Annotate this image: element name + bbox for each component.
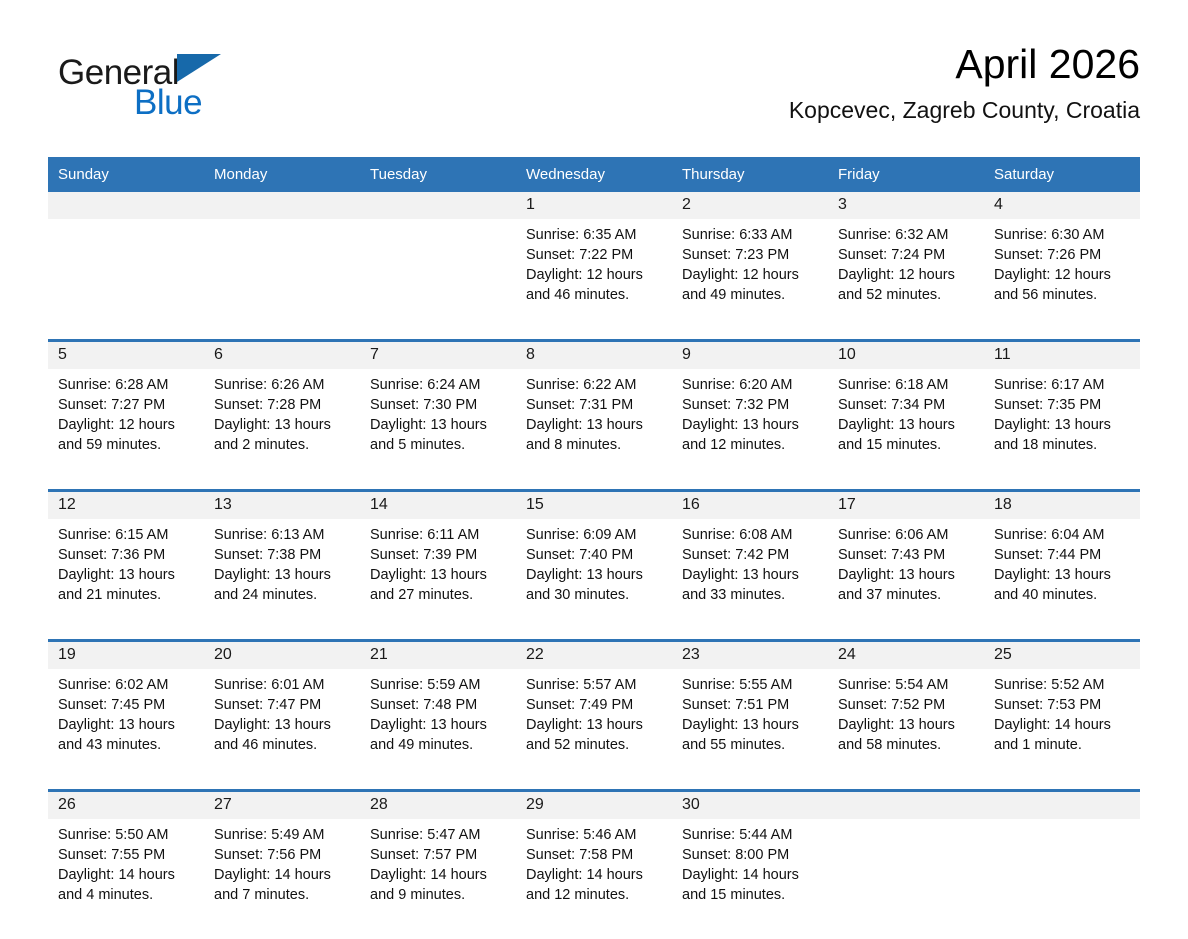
detail-line: and 5 minutes. xyxy=(370,435,508,455)
detail-line: Sunset: 7:55 PM xyxy=(58,845,196,865)
detail-line: Sunrise: 5:55 AM xyxy=(682,675,820,695)
day-cell-details: Sunrise: 5:46 AMSunset: 7:58 PMDaylight:… xyxy=(516,819,672,939)
detail-line: Daylight: 13 hours xyxy=(526,415,664,435)
detail-line: Sunset: 7:48 PM xyxy=(370,695,508,715)
day-cell-details: Sunrise: 5:52 AMSunset: 7:53 PMDaylight:… xyxy=(984,669,1140,791)
detail-line: Daylight: 12 hours xyxy=(526,265,664,285)
day-cell-details: Sunrise: 5:50 AMSunset: 7:55 PMDaylight:… xyxy=(48,819,204,939)
detail-line: Daylight: 13 hours xyxy=(214,415,352,435)
day-cell-details: Sunrise: 5:55 AMSunset: 7:51 PMDaylight:… xyxy=(672,669,828,791)
detail-line: Sunset: 7:51 PM xyxy=(682,695,820,715)
detail-line: Sunset: 7:27 PM xyxy=(58,395,196,415)
detail-line: Daylight: 13 hours xyxy=(526,715,664,735)
day-cell-details: Sunrise: 6:15 AMSunset: 7:36 PMDaylight:… xyxy=(48,519,204,641)
detail-line: and 46 minutes. xyxy=(214,735,352,755)
day-number[interactable]: 6 xyxy=(204,341,360,370)
detail-line: Sunrise: 6:15 AM xyxy=(58,525,196,545)
weekday-header-monday: Monday xyxy=(204,157,360,192)
detail-line: Daylight: 13 hours xyxy=(838,715,976,735)
day-number[interactable]: 12 xyxy=(48,491,204,520)
detail-line: and 52 minutes. xyxy=(838,285,976,305)
detail-line: Sunset: 7:31 PM xyxy=(526,395,664,415)
detail-line: and 18 minutes. xyxy=(994,435,1132,455)
day-cell-details: Sunrise: 6:32 AMSunset: 7:24 PMDaylight:… xyxy=(828,219,984,341)
detail-line: Daylight: 12 hours xyxy=(58,415,196,435)
detail-line: Sunset: 7:28 PM xyxy=(214,395,352,415)
detail-line: and 24 minutes. xyxy=(214,585,352,605)
detail-line: Sunset: 7:26 PM xyxy=(994,245,1132,265)
page-header: General Blue April 2026 Kopcevec, Zagreb… xyxy=(48,40,1140,150)
day-number[interactable]: 15 xyxy=(516,491,672,520)
day-cell-details: Sunrise: 6:24 AMSunset: 7:30 PMDaylight:… xyxy=(360,369,516,491)
detail-line: Sunrise: 6:20 AM xyxy=(682,375,820,395)
day-cell-details: Sunrise: 6:20 AMSunset: 7:32 PMDaylight:… xyxy=(672,369,828,491)
detail-line: Sunset: 7:49 PM xyxy=(526,695,664,715)
weekday-header-saturday: Saturday xyxy=(984,157,1140,192)
detail-line: and 27 minutes. xyxy=(370,585,508,605)
detail-line: Daylight: 13 hours xyxy=(214,565,352,585)
detail-line: and 59 minutes. xyxy=(58,435,196,455)
detail-line: Sunrise: 5:50 AM xyxy=(58,825,196,845)
detail-line: Sunset: 7:57 PM xyxy=(370,845,508,865)
detail-line: and 49 minutes. xyxy=(370,735,508,755)
detail-line: Sunset: 7:40 PM xyxy=(526,545,664,565)
detail-line: Sunset: 7:39 PM xyxy=(370,545,508,565)
day-cell-details: Sunrise: 6:09 AMSunset: 7:40 PMDaylight:… xyxy=(516,519,672,641)
detail-line: Daylight: 13 hours xyxy=(214,715,352,735)
detail-line: Sunrise: 6:01 AM xyxy=(214,675,352,695)
day-cell-details: Sunrise: 6:13 AMSunset: 7:38 PMDaylight:… xyxy=(204,519,360,641)
day-number[interactable]: 14 xyxy=(360,491,516,520)
triangle-icon xyxy=(177,54,221,82)
detail-line: Sunset: 7:45 PM xyxy=(58,695,196,715)
detail-line: and 55 minutes. xyxy=(682,735,820,755)
day-cell-empty xyxy=(828,819,984,939)
day-number[interactable]: 7 xyxy=(360,341,516,370)
detail-line: Sunset: 7:42 PM xyxy=(682,545,820,565)
detail-line: Daylight: 13 hours xyxy=(58,565,196,585)
day-cell-details: Sunrise: 6:06 AMSunset: 7:43 PMDaylight:… xyxy=(828,519,984,641)
week-info-row: Sunrise: 6:02 AMSunset: 7:45 PMDaylight:… xyxy=(48,669,1140,791)
location-subtitle: Kopcevec, Zagreb County, Croatia xyxy=(440,94,1140,126)
detail-line: Daylight: 14 hours xyxy=(370,865,508,885)
detail-line: and 15 minutes. xyxy=(682,885,820,905)
detail-line: and 9 minutes. xyxy=(370,885,508,905)
week-date-row: 2627282930 xyxy=(48,791,1140,820)
day-number[interactable]: 5 xyxy=(48,341,204,370)
detail-line: Sunset: 7:30 PM xyxy=(370,395,508,415)
detail-line: and 21 minutes. xyxy=(58,585,196,605)
day-cell-details: Sunrise: 6:35 AMSunset: 7:22 PMDaylight:… xyxy=(516,219,672,341)
weekday-header-thursday: Thursday xyxy=(672,157,828,192)
weekday-header-tuesday: Tuesday xyxy=(360,157,516,192)
day-number-empty xyxy=(984,791,1140,820)
day-number[interactable]: 24 xyxy=(828,641,984,670)
detail-line: Sunrise: 6:30 AM xyxy=(994,225,1132,245)
day-cell-details: Sunrise: 5:44 AMSunset: 8:00 PMDaylight:… xyxy=(672,819,828,939)
weekday-header-sunday: Sunday xyxy=(48,157,204,192)
day-number[interactable]: 13 xyxy=(204,491,360,520)
day-number[interactable]: 23 xyxy=(672,641,828,670)
week-date-row: 19202122232425 xyxy=(48,641,1140,670)
day-cell-details: Sunrise: 6:01 AMSunset: 7:47 PMDaylight:… xyxy=(204,669,360,791)
day-cell-details: Sunrise: 6:33 AMSunset: 7:23 PMDaylight:… xyxy=(672,219,828,341)
day-number[interactable]: 21 xyxy=(360,641,516,670)
detail-line: Sunrise: 6:06 AM xyxy=(838,525,976,545)
detail-line: Sunrise: 5:57 AM xyxy=(526,675,664,695)
detail-line: and 33 minutes. xyxy=(682,585,820,605)
general-blue-logo[interactable]: General Blue xyxy=(58,54,258,128)
detail-line: Sunrise: 6:24 AM xyxy=(370,375,508,395)
detail-line: and 56 minutes. xyxy=(994,285,1132,305)
detail-line: and 58 minutes. xyxy=(838,735,976,755)
day-number[interactable]: 10 xyxy=(828,341,984,370)
day-cell-details: Sunrise: 6:17 AMSunset: 7:35 PMDaylight:… xyxy=(984,369,1140,491)
detail-line: Sunrise: 6:13 AM xyxy=(214,525,352,545)
detail-line: Daylight: 13 hours xyxy=(682,565,820,585)
detail-line: Sunrise: 6:35 AM xyxy=(526,225,664,245)
detail-line: Sunset: 7:35 PM xyxy=(994,395,1132,415)
day-cell-details: Sunrise: 5:59 AMSunset: 7:48 PMDaylight:… xyxy=(360,669,516,791)
day-number[interactable]: 29 xyxy=(516,791,672,820)
detail-line: Sunset: 7:32 PM xyxy=(682,395,820,415)
week-info-row: Sunrise: 6:35 AMSunset: 7:22 PMDaylight:… xyxy=(48,219,1140,341)
detail-line: Sunset: 7:44 PM xyxy=(994,545,1132,565)
detail-line: and 37 minutes. xyxy=(838,585,976,605)
detail-line: Sunrise: 6:18 AM xyxy=(838,375,976,395)
day-cell-details: Sunrise: 5:49 AMSunset: 7:56 PMDaylight:… xyxy=(204,819,360,939)
detail-line: and 43 minutes. xyxy=(58,735,196,755)
detail-line: Daylight: 13 hours xyxy=(526,565,664,585)
detail-line: and 30 minutes. xyxy=(526,585,664,605)
detail-line: Sunset: 7:36 PM xyxy=(58,545,196,565)
day-cell-empty xyxy=(360,219,516,341)
day-number[interactable]: 1 xyxy=(516,192,672,219)
week-info-row: Sunrise: 5:50 AMSunset: 7:55 PMDaylight:… xyxy=(48,819,1140,939)
detail-line: Daylight: 14 hours xyxy=(214,865,352,885)
detail-line: Daylight: 13 hours xyxy=(370,565,508,585)
detail-line: Daylight: 12 hours xyxy=(838,265,976,285)
weekday-header-friday: Friday xyxy=(828,157,984,192)
detail-line: Daylight: 14 hours xyxy=(994,715,1132,735)
day-number[interactable]: 11 xyxy=(984,341,1140,370)
detail-line: Daylight: 13 hours xyxy=(682,415,820,435)
day-number[interactable]: 2 xyxy=(672,192,828,219)
detail-line: Sunset: 7:24 PM xyxy=(838,245,976,265)
detail-line: Sunrise: 5:46 AM xyxy=(526,825,664,845)
detail-line: Daylight: 13 hours xyxy=(370,715,508,735)
week-date-row: 12131415161718 xyxy=(48,491,1140,520)
detail-line: Sunset: 7:43 PM xyxy=(838,545,976,565)
day-cell-details: Sunrise: 6:02 AMSunset: 7:45 PMDaylight:… xyxy=(48,669,204,791)
detail-line: and 1 minute. xyxy=(994,735,1132,755)
detail-line: Sunrise: 6:17 AM xyxy=(994,375,1132,395)
day-cell-empty xyxy=(984,819,1140,939)
calendar-grid: Sunday Monday Tuesday Wednesday Thursday… xyxy=(48,157,1140,939)
day-number[interactable]: 16 xyxy=(672,491,828,520)
detail-line: Sunset: 7:58 PM xyxy=(526,845,664,865)
detail-line: Sunrise: 6:28 AM xyxy=(58,375,196,395)
detail-line: Daylight: 14 hours xyxy=(58,865,196,885)
day-number[interactable]: 9 xyxy=(672,341,828,370)
day-number[interactable]: 27 xyxy=(204,791,360,820)
detail-line: Sunrise: 5:47 AM xyxy=(370,825,508,845)
detail-line: Sunset: 7:53 PM xyxy=(994,695,1132,715)
detail-line: Daylight: 12 hours xyxy=(682,265,820,285)
day-cell-details: Sunrise: 5:57 AMSunset: 7:49 PMDaylight:… xyxy=(516,669,672,791)
day-number[interactable]: 20 xyxy=(204,641,360,670)
day-cell-details: Sunrise: 6:28 AMSunset: 7:27 PMDaylight:… xyxy=(48,369,204,491)
detail-line: Sunrise: 5:52 AM xyxy=(994,675,1132,695)
detail-line: and 52 minutes. xyxy=(526,735,664,755)
calendar-page: General Blue April 2026 Kopcevec, Zagreb… xyxy=(0,0,1188,918)
detail-line: Daylight: 14 hours xyxy=(682,865,820,885)
detail-line: and 7 minutes. xyxy=(214,885,352,905)
detail-line: Sunrise: 6:08 AM xyxy=(682,525,820,545)
detail-line: Sunset: 7:56 PM xyxy=(214,845,352,865)
page-title: April 2026 xyxy=(440,40,1140,88)
detail-line: and 49 minutes. xyxy=(682,285,820,305)
detail-line: Sunset: 7:52 PM xyxy=(838,695,976,715)
day-number[interactable]: 30 xyxy=(672,791,828,820)
day-number[interactable]: 17 xyxy=(828,491,984,520)
detail-line: Sunrise: 6:32 AM xyxy=(838,225,976,245)
day-cell-details: Sunrise: 6:11 AMSunset: 7:39 PMDaylight:… xyxy=(360,519,516,641)
detail-line: and 8 minutes. xyxy=(526,435,664,455)
detail-line: Sunrise: 5:49 AM xyxy=(214,825,352,845)
detail-line: Daylight: 13 hours xyxy=(994,415,1132,435)
detail-line: Sunrise: 6:26 AM xyxy=(214,375,352,395)
week-date-row: 1234 xyxy=(48,192,1140,219)
day-number-empty xyxy=(828,791,984,820)
detail-line: Sunset: 7:47 PM xyxy=(214,695,352,715)
detail-line: Sunrise: 5:54 AM xyxy=(838,675,976,695)
calendar-header-row: Sunday Monday Tuesday Wednesday Thursday… xyxy=(48,157,1140,192)
detail-line: and 40 minutes. xyxy=(994,585,1132,605)
day-number[interactable]: 4 xyxy=(984,192,1140,219)
day-number[interactable]: 18 xyxy=(984,491,1140,520)
day-number[interactable]: 3 xyxy=(828,192,984,219)
detail-line: Daylight: 14 hours xyxy=(526,865,664,885)
detail-line: and 15 minutes. xyxy=(838,435,976,455)
title-block: April 2026 Kopcevec, Zagreb County, Croa… xyxy=(440,40,1140,126)
detail-line: Daylight: 13 hours xyxy=(370,415,508,435)
detail-line: Sunrise: 6:33 AM xyxy=(682,225,820,245)
day-number-empty xyxy=(360,192,516,219)
day-number[interactable]: 19 xyxy=(48,641,204,670)
weekday-header-wednesday: Wednesday xyxy=(516,157,672,192)
detail-line: Sunrise: 6:04 AM xyxy=(994,525,1132,545)
detail-line: Daylight: 12 hours xyxy=(994,265,1132,285)
week-info-row: Sunrise: 6:28 AMSunset: 7:27 PMDaylight:… xyxy=(48,369,1140,491)
day-number-empty xyxy=(204,192,360,219)
detail-line: Sunrise: 5:44 AM xyxy=(682,825,820,845)
detail-line: and 4 minutes. xyxy=(58,885,196,905)
detail-line: Sunrise: 6:22 AM xyxy=(526,375,664,395)
detail-line: Daylight: 13 hours xyxy=(838,565,976,585)
day-cell-empty xyxy=(48,219,204,341)
detail-line: Sunrise: 5:59 AM xyxy=(370,675,508,695)
detail-line: Sunset: 7:38 PM xyxy=(214,545,352,565)
day-cell-details: Sunrise: 6:26 AMSunset: 7:28 PMDaylight:… xyxy=(204,369,360,491)
day-cell-details: Sunrise: 5:54 AMSunset: 7:52 PMDaylight:… xyxy=(828,669,984,791)
detail-line: Sunrise: 6:09 AM xyxy=(526,525,664,545)
detail-line: Daylight: 13 hours xyxy=(58,715,196,735)
day-cell-details: Sunrise: 6:30 AMSunset: 7:26 PMDaylight:… xyxy=(984,219,1140,341)
detail-line: Sunset: 7:22 PM xyxy=(526,245,664,265)
day-number[interactable]: 28 xyxy=(360,791,516,820)
calendar-table: Sunday Monday Tuesday Wednesday Thursday… xyxy=(48,157,1140,939)
day-number[interactable]: 22 xyxy=(516,641,672,670)
day-number[interactable]: 26 xyxy=(48,791,204,820)
day-cell-empty xyxy=(204,219,360,341)
detail-line: Sunset: 7:34 PM xyxy=(838,395,976,415)
detail-line: Sunset: 7:23 PM xyxy=(682,245,820,265)
logo-word-blue: Blue xyxy=(134,84,202,122)
week-info-row: Sunrise: 6:15 AMSunset: 7:36 PMDaylight:… xyxy=(48,519,1140,641)
detail-line: Sunset: 8:00 PM xyxy=(682,845,820,865)
day-number-empty xyxy=(48,192,204,219)
calendar-body: 1234Sunrise: 6:35 AMSunset: 7:22 PMDayli… xyxy=(48,192,1140,939)
detail-line: and 46 minutes. xyxy=(526,285,664,305)
detail-line: and 12 minutes. xyxy=(526,885,664,905)
detail-line: Sunrise: 6:11 AM xyxy=(370,525,508,545)
detail-line: and 2 minutes. xyxy=(214,435,352,455)
detail-line: Daylight: 13 hours xyxy=(838,415,976,435)
day-cell-details: Sunrise: 6:08 AMSunset: 7:42 PMDaylight:… xyxy=(672,519,828,641)
day-number[interactable]: 25 xyxy=(984,641,1140,670)
detail-line: Daylight: 13 hours xyxy=(994,565,1132,585)
detail-line: Sunrise: 6:02 AM xyxy=(58,675,196,695)
day-number[interactable]: 8 xyxy=(516,341,672,370)
detail-line: Daylight: 13 hours xyxy=(682,715,820,735)
week-date-row: 567891011 xyxy=(48,341,1140,370)
detail-line: and 12 minutes. xyxy=(682,435,820,455)
day-cell-details: Sunrise: 6:22 AMSunset: 7:31 PMDaylight:… xyxy=(516,369,672,491)
day-cell-details: Sunrise: 6:04 AMSunset: 7:44 PMDaylight:… xyxy=(984,519,1140,641)
day-cell-details: Sunrise: 6:18 AMSunset: 7:34 PMDaylight:… xyxy=(828,369,984,491)
day-cell-details: Sunrise: 5:47 AMSunset: 7:57 PMDaylight:… xyxy=(360,819,516,939)
